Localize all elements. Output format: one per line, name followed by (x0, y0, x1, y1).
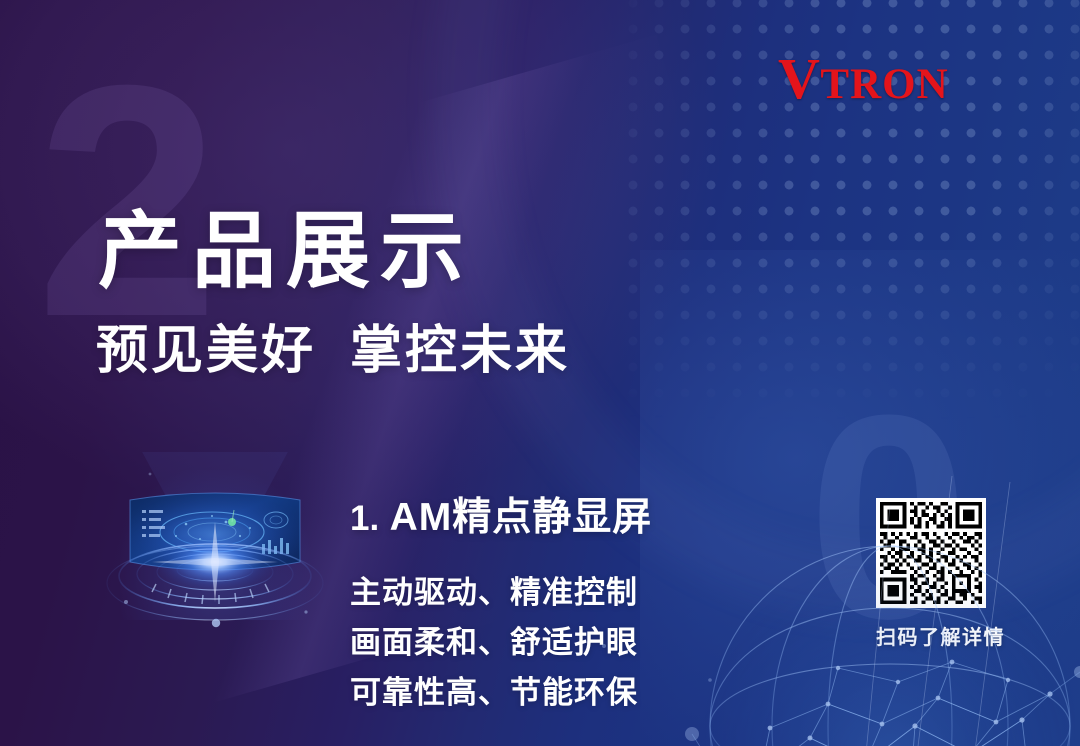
page-title: 产品展示 (98, 208, 474, 295)
logo-letter-v: V (778, 46, 820, 111)
logo-letters-tron: TRON (820, 61, 948, 108)
product-index: 1. (350, 499, 379, 538)
page-subtitle: 预见美好掌控未来 (96, 322, 570, 382)
watermark-number-two: 2 (36, 36, 220, 366)
vtron-logo: VTRON (778, 50, 949, 108)
subtitle-phrase-two: 掌控未来 (350, 322, 570, 380)
display-halo-glow (120, 470, 310, 620)
network-globe-mesh (560, 476, 1080, 746)
subtitle-phrase-one: 预见美好 (96, 322, 316, 380)
curved-led-display-visual (90, 452, 340, 662)
slide-canvas: 2 0 VTRON 产品展示 预见美好掌控未来 (0, 0, 1080, 746)
